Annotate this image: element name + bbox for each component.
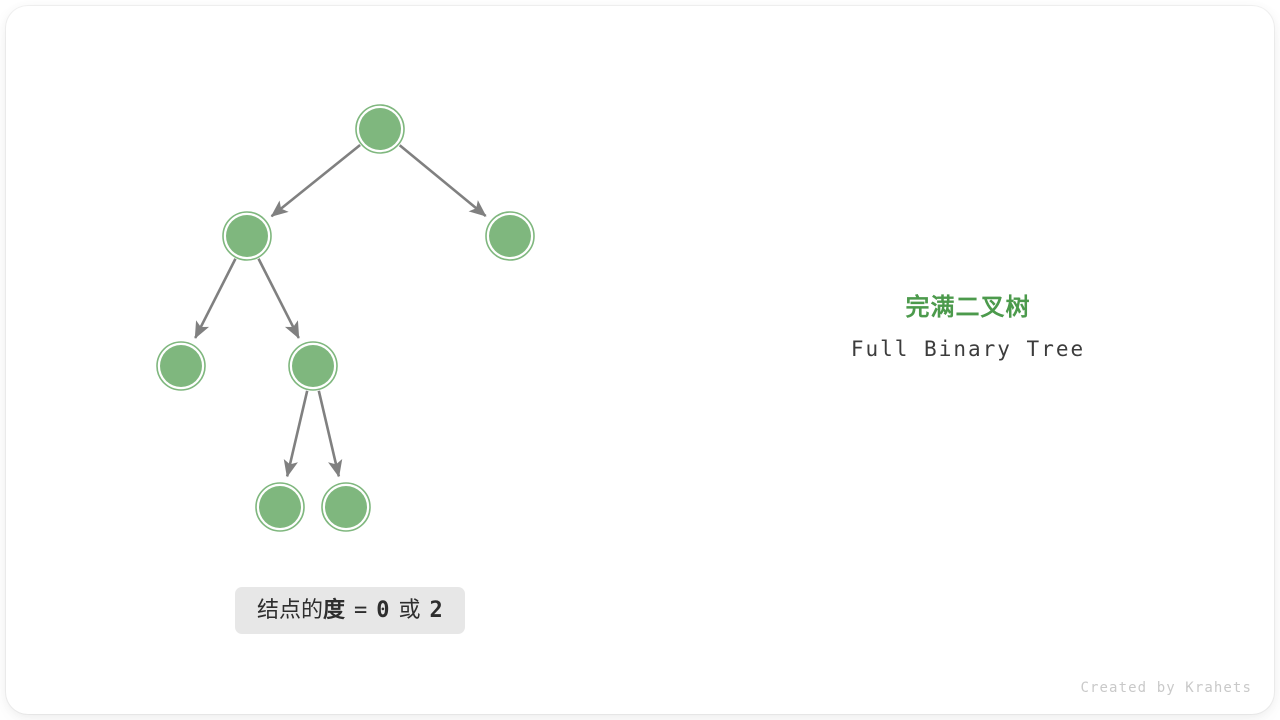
degree-label-or: 或 [399,600,421,622]
tree-node-n6 [256,483,304,531]
tree-node-n5 [289,342,337,390]
caption-title: 完满二叉树 [768,292,1168,322]
degree-label-degree: 度 [323,600,345,622]
tree-edge-layer [195,145,485,476]
tree-edge-n2-n5 [259,259,299,338]
tree-edge-n1-n2 [272,145,361,216]
credit-text: Created by Krahets [1080,680,1252,696]
tree-node-disc [359,108,401,150]
tree-node-n4 [157,342,205,390]
tree-node-disc [160,345,202,387]
degree-label-pill: 结点的度=0或2 [235,587,465,634]
diagram-canvas: 完满二叉树 Full Binary Tree 结点的度=0或2 Created … [0,0,1280,720]
tree-edge-n2-n4 [195,259,235,338]
tree-node-n1 [356,105,404,153]
tree-edge-n1-n3 [400,145,486,216]
degree-label-prefix: 结点的 [257,600,323,622]
tree-edge-n5-n6 [287,391,307,476]
tree-edge-n5-n7 [319,391,339,476]
tree-node-disc [325,486,367,528]
tree-node-disc [226,215,268,257]
degree-label-value-zero: 0 [376,600,389,622]
tree-node-disc [489,215,531,257]
degree-label-equals: = [354,600,367,622]
tree-node-disc [292,345,334,387]
tree-node-n7 [322,483,370,531]
tree-node-disc [259,486,301,528]
caption-subtitle: Full Binary Tree [768,336,1168,362]
tree-node-n2 [223,212,271,260]
tree-node-n3 [486,212,534,260]
tree-node-layer [157,105,534,531]
caption-block: 完满二叉树 Full Binary Tree [768,292,1168,362]
degree-label-value-two: 2 [430,600,443,622]
